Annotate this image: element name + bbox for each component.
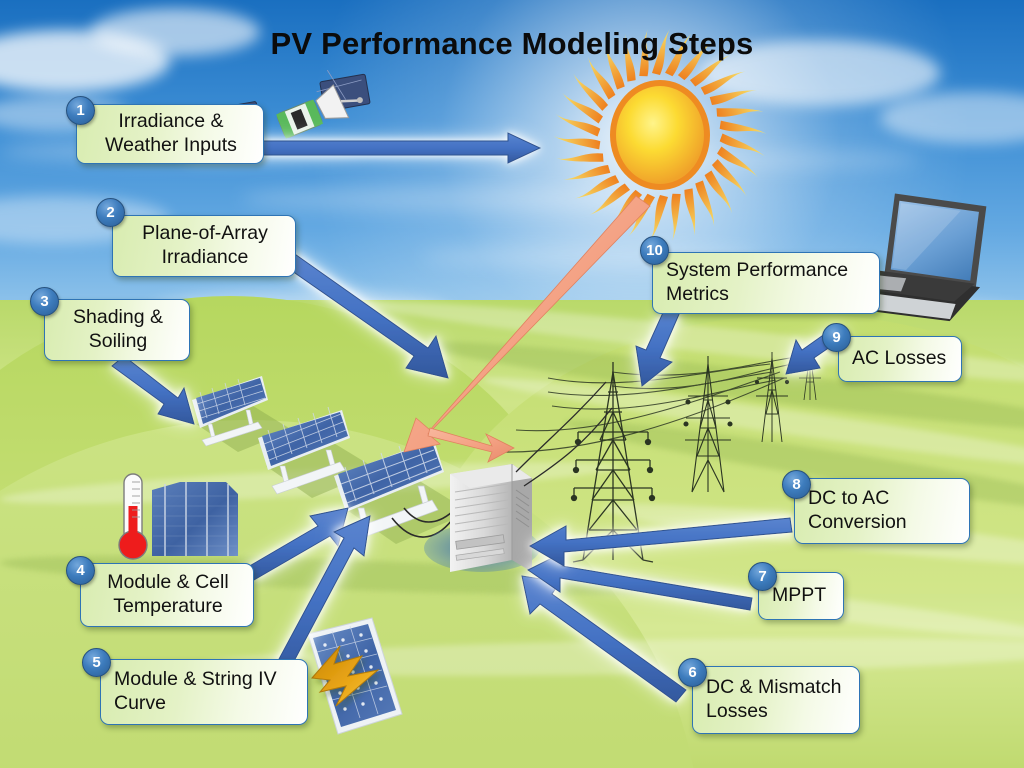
- step-box-10[interactable]: System Performance Metrics: [652, 252, 880, 314]
- step-label-7: MPPT: [772, 584, 832, 608]
- step-box-2[interactable]: Plane-of-Array Irradiance: [112, 215, 296, 277]
- step-box-4[interactable]: Module & Cell Temperature: [80, 563, 254, 627]
- step-label-6: DC & Mismatch Losses: [706, 676, 848, 724]
- step-box-3[interactable]: Shading & Soiling: [44, 299, 190, 361]
- step-badge-5: 5: [82, 648, 111, 677]
- cloud-icon: [240, 186, 660, 212]
- step-box-5[interactable]: Module & String IV Curve: [100, 659, 308, 725]
- step-label-5: Module & String IV Curve: [114, 668, 296, 716]
- step-badge-9: 9: [822, 323, 851, 352]
- step-badge-4: 4: [66, 556, 95, 585]
- page-title: PV Performance Modeling Steps: [0, 26, 1024, 62]
- step-box-9[interactable]: AC Losses: [838, 336, 962, 382]
- step-label-10: System Performance Metrics: [666, 259, 868, 307]
- diagram-canvas: PV Performance Modeling Steps Irradiance…: [0, 0, 1024, 768]
- step-label-3: Shading & Soiling: [58, 306, 178, 354]
- step-label-4: Module & Cell Temperature: [94, 571, 242, 619]
- step-badge-2: 2: [96, 198, 125, 227]
- step-badge-3: 3: [30, 287, 59, 316]
- cloud-icon: [620, 150, 920, 170]
- step-label-1: Irradiance & Weather Inputs: [90, 110, 252, 158]
- step-box-8[interactable]: DC to AC Conversion: [794, 478, 970, 544]
- step-badge-6: 6: [678, 658, 707, 687]
- step-box-6[interactable]: DC & Mismatch Losses: [692, 666, 860, 734]
- step-label-9: AC Losses: [852, 347, 950, 371]
- step-label-2: Plane-of-Array Irradiance: [126, 222, 284, 270]
- step-badge-1: 1: [66, 96, 95, 125]
- step-badge-8: 8: [782, 470, 811, 499]
- step-badge-10: 10: [640, 236, 669, 265]
- step-label-8: DC to AC Conversion: [808, 487, 958, 535]
- step-badge-7: 7: [748, 562, 777, 591]
- step-box-1[interactable]: Irradiance & Weather Inputs: [76, 104, 264, 164]
